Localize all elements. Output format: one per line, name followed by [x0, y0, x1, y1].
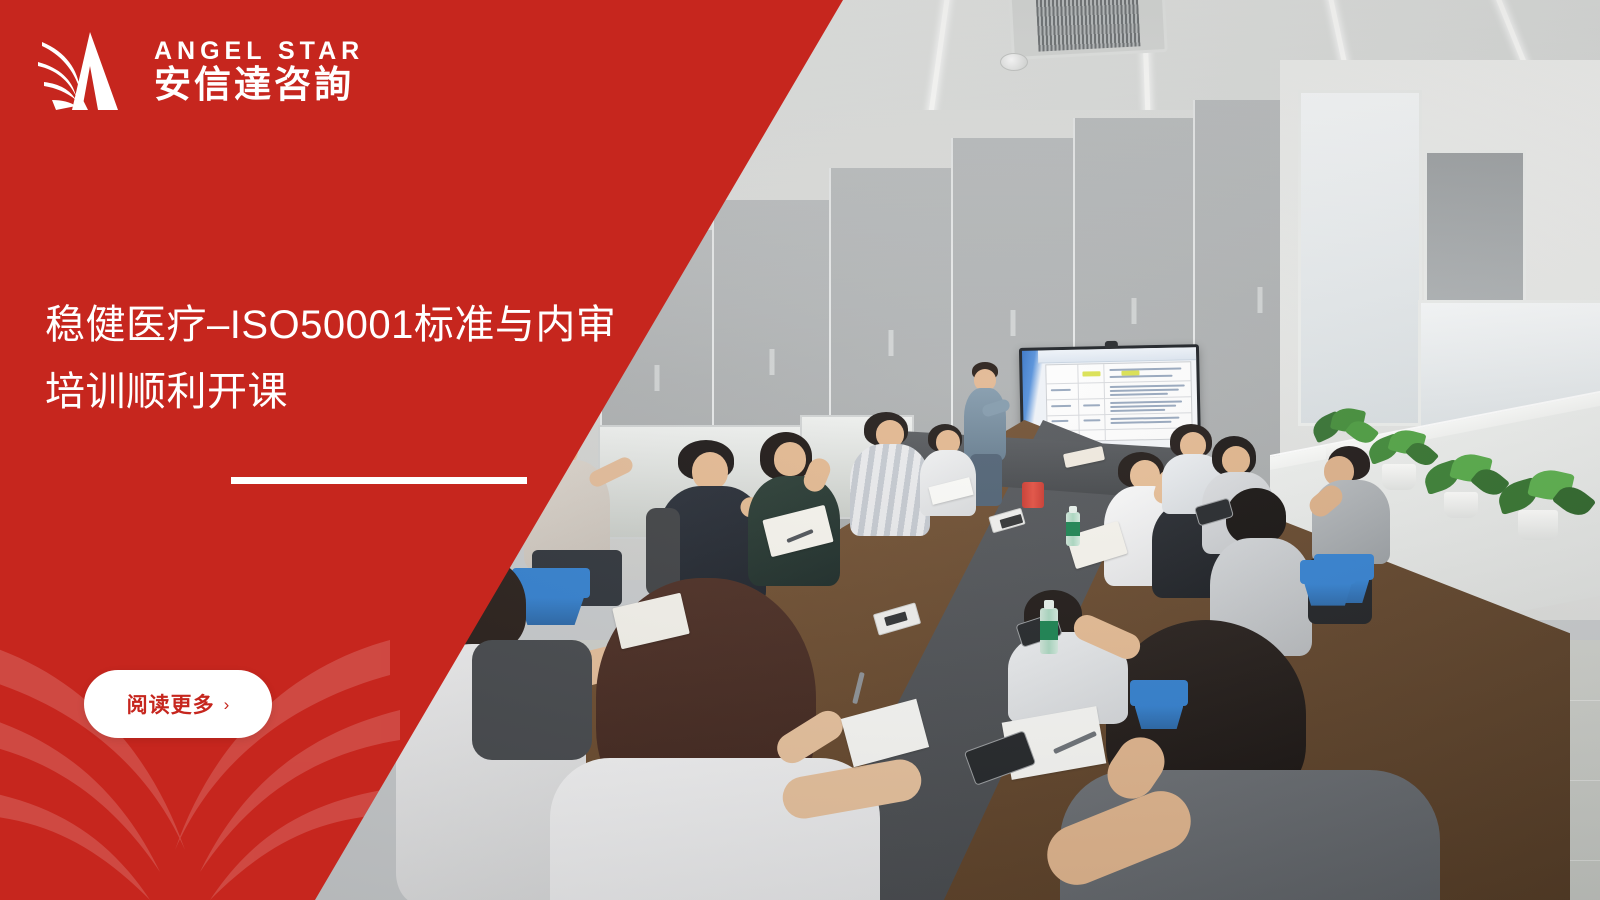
- red-container: [1022, 482, 1044, 508]
- plastic-stool: [1130, 680, 1188, 706]
- page-title-line1: 稳健医疗–ISO50001标准与内审: [45, 292, 625, 359]
- chevron-right-icon: ›: [224, 696, 230, 713]
- title-divider: [231, 477, 527, 484]
- page-title: 稳健医疗–ISO50001标准与内审 培训顺利开课: [45, 292, 625, 426]
- logo-english-name: ANGEL STAR: [154, 39, 364, 64]
- brand-logo[interactable]: ANGEL STAR 安信達咨詢: [32, 26, 364, 118]
- window-pane: [1298, 90, 1422, 426]
- water-bottle: [1066, 512, 1080, 546]
- angel-wings-watermark-icon: [0, 600, 400, 900]
- ceiling-air-conditioner-icon: [1008, 0, 1168, 60]
- office-chair: [472, 640, 592, 760]
- water-bottle: [1040, 608, 1058, 654]
- plastic-stool: [1300, 560, 1356, 584]
- logo-chinese-name: 安信達咨詢: [154, 66, 364, 105]
- angel-wing-a-logo-icon: [32, 26, 140, 118]
- read-more-button[interactable]: 阅读更多 ›: [84, 670, 272, 738]
- read-more-label: 阅读更多: [127, 689, 215, 719]
- page-title-line2: 培训顺利开课: [45, 359, 625, 426]
- hero-banner: ANGEL STAR 安信達咨詢 稳健医疗–ISO50001标准与内审 培训顺利…: [0, 0, 1600, 900]
- smoke-detector-icon: [1000, 53, 1028, 71]
